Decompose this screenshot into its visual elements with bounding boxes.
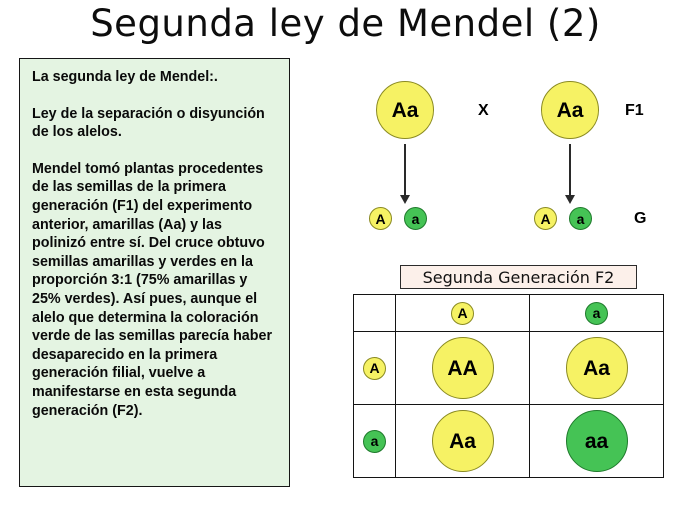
f2-caption-box: Segunda Generación F2 — [400, 265, 637, 289]
punnett-row-header-circle-A: A — [363, 357, 386, 380]
punnett-row-header-circle-a: a — [363, 430, 386, 453]
genotype-circle-aa: aa — [566, 410, 628, 472]
punnett-col-header-circle-A: A — [451, 302, 474, 325]
panel-paragraph-heading: La segunda ley de Mendel:. — [32, 68, 279, 87]
panel-paragraph-body: Mendel tomó plantas procedentes de las s… — [32, 160, 279, 420]
punnett-cell-2-1: Aa — [396, 405, 530, 478]
generation-label-f1: F1 — [625, 102, 644, 120]
genotype-circle-Aa-bottom: Aa — [432, 410, 494, 472]
punnett-cell-1-2: Aa — [530, 332, 664, 405]
gamete-right-recessive: a — [569, 207, 592, 230]
punnett-corner-cell — [354, 295, 396, 332]
genotype-circle-Aa-top: Aa — [566, 337, 628, 399]
gamete-left-recessive: a — [404, 207, 427, 230]
punnett-row-2: a Aa aa — [354, 405, 664, 478]
gamete-left-dominant: A — [369, 207, 392, 230]
page-title: Segunda ley de Mendel (2) — [0, 2, 691, 45]
parent-circle-left: Aa — [376, 81, 434, 139]
punnett-cell-2-2: aa — [530, 405, 664, 478]
punnett-row-1: A AA Aa — [354, 332, 664, 405]
punnett-col-header-circle-a: a — [585, 302, 608, 325]
punnett-cell-1-1: AA — [396, 332, 530, 405]
gametes-label: G — [634, 210, 646, 228]
parent-circle-right: Aa — [541, 81, 599, 139]
cross-symbol-label: X — [478, 102, 489, 120]
gamete-right-dominant: A — [534, 207, 557, 230]
panel-paragraph-law: Ley de la separación o disyunción de los… — [32, 105, 279, 142]
punnett-header-row: A a — [354, 295, 664, 332]
arrow-down-icon-right — [569, 144, 571, 196]
explanation-panel: La segunda ley de Mendel:. Ley de la sep… — [19, 58, 290, 487]
genotype-circle-AA: AA — [432, 337, 494, 399]
punnett-square: A a A AA Aa — [353, 294, 664, 478]
punnett-col-header-1: A — [396, 295, 530, 332]
arrow-down-icon-left — [404, 144, 406, 196]
punnett-row-header-2: a — [354, 405, 396, 478]
punnett-row-header-1: A — [354, 332, 396, 405]
punnett-col-header-2: a — [530, 295, 664, 332]
